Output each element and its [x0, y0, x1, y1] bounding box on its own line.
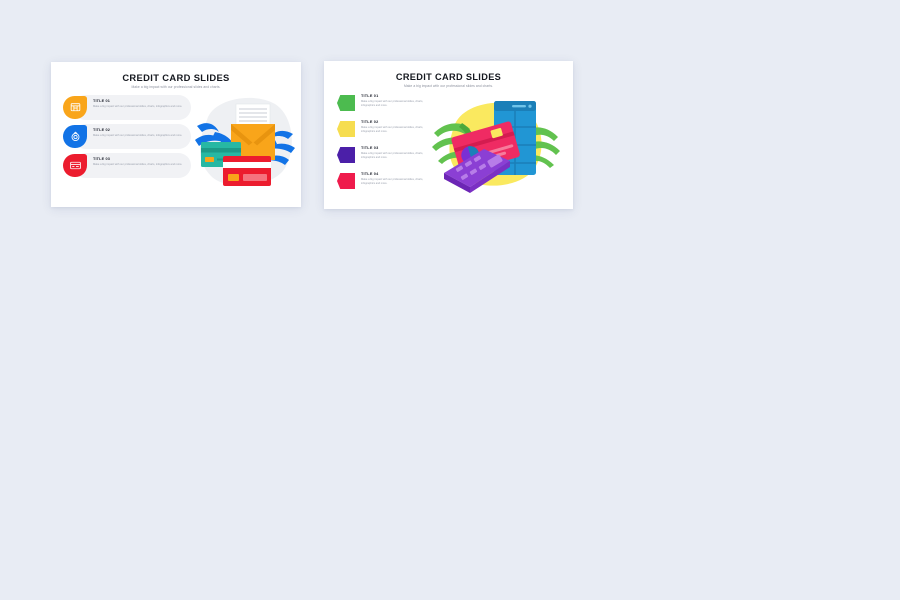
list-item-text: TITLE 03 Make a big impact with our prof…: [361, 146, 435, 160]
list-item-title: TITLE 01: [93, 99, 185, 103]
list-item[interactable]: TITLE 02 Make a big impact with our prof…: [63, 124, 191, 149]
list-item-title: TITLE 02: [93, 128, 185, 132]
list-item-body: Make a big impact with our professional …: [93, 105, 185, 109]
slide-right-item-list: TITLE 01 Make a big impact with our prof…: [337, 93, 435, 197]
credit-card-icon: [63, 154, 87, 177]
envelope-with-credit-cards-illustration: [193, 90, 297, 194]
money-bag-icon: [63, 125, 87, 148]
pentagon-marker-icon: [337, 147, 355, 163]
list-item-body: Make a big impact with our professional …: [361, 178, 435, 186]
slide-left-item-list: TITLE 01 Make a big impact with our prof…: [63, 95, 191, 182]
slide-left-title: CREDIT CARD SLIDES: [51, 73, 301, 83]
list-item-text: TITLE 01 Make a big impact with our prof…: [361, 94, 435, 108]
list-item-text: TITLE 03 Make a big impact with our prof…: [93, 157, 185, 167]
list-item-body: Make a big impact with our professional …: [93, 163, 185, 167]
list-item-title: TITLE 03: [361, 146, 435, 150]
list-item-title: TITLE 01: [361, 94, 435, 98]
slide-right-title: CREDIT CARD SLIDES: [324, 72, 573, 82]
slide-right-header: CREDIT CARD SLIDES Make a big impact wit…: [324, 61, 573, 88]
pentagon-marker-icon: [337, 173, 355, 189]
list-item-text: TITLE 02 Make a big impact with our prof…: [93, 128, 185, 138]
list-item[interactable]: TITLE 03 Make a big impact with our prof…: [63, 153, 191, 178]
list-item-title: TITLE 02: [361, 120, 435, 124]
list-item-body: Make a big impact with our professional …: [361, 152, 435, 160]
list-item-body: Make a big impact with our professional …: [93, 134, 185, 138]
list-item-title: TITLE 04: [361, 172, 435, 176]
list-item[interactable]: TITLE 01 Make a big impact with our prof…: [63, 95, 191, 120]
payment-terminal-phone-card-illustration: [432, 87, 560, 199]
list-item-text: TITLE 01 Make a big impact with our prof…: [93, 99, 185, 109]
list-item-text: TITLE 04 Make a big impact with our prof…: [361, 172, 435, 186]
list-item-body: Make a big impact with our professional …: [361, 100, 435, 108]
slide-card-left[interactable]: CREDIT CARD SLIDES Make a big impact wit…: [51, 62, 301, 207]
atm-machine-icon: [63, 96, 87, 119]
slide-left-header: CREDIT CARD SLIDES Make a big impact wit…: [51, 62, 301, 90]
slide-card-right[interactable]: CREDIT CARD SLIDES Make a big impact wit…: [324, 61, 573, 209]
list-item[interactable]: TITLE 02 Make a big impact with our prof…: [337, 119, 435, 143]
list-item[interactable]: TITLE 04 Make a big impact with our prof…: [337, 171, 435, 195]
list-item-body: Make a big impact with our professional …: [361, 126, 435, 134]
list-item-text: TITLE 02 Make a big impact with our prof…: [361, 120, 435, 134]
list-item[interactable]: TITLE 01 Make a big impact with our prof…: [337, 93, 435, 117]
list-item[interactable]: TITLE 03 Make a big impact with our prof…: [337, 145, 435, 169]
pentagon-marker-icon: [337, 121, 355, 137]
pentagon-marker-icon: [337, 95, 355, 111]
list-item-title: TITLE 03: [93, 157, 185, 161]
